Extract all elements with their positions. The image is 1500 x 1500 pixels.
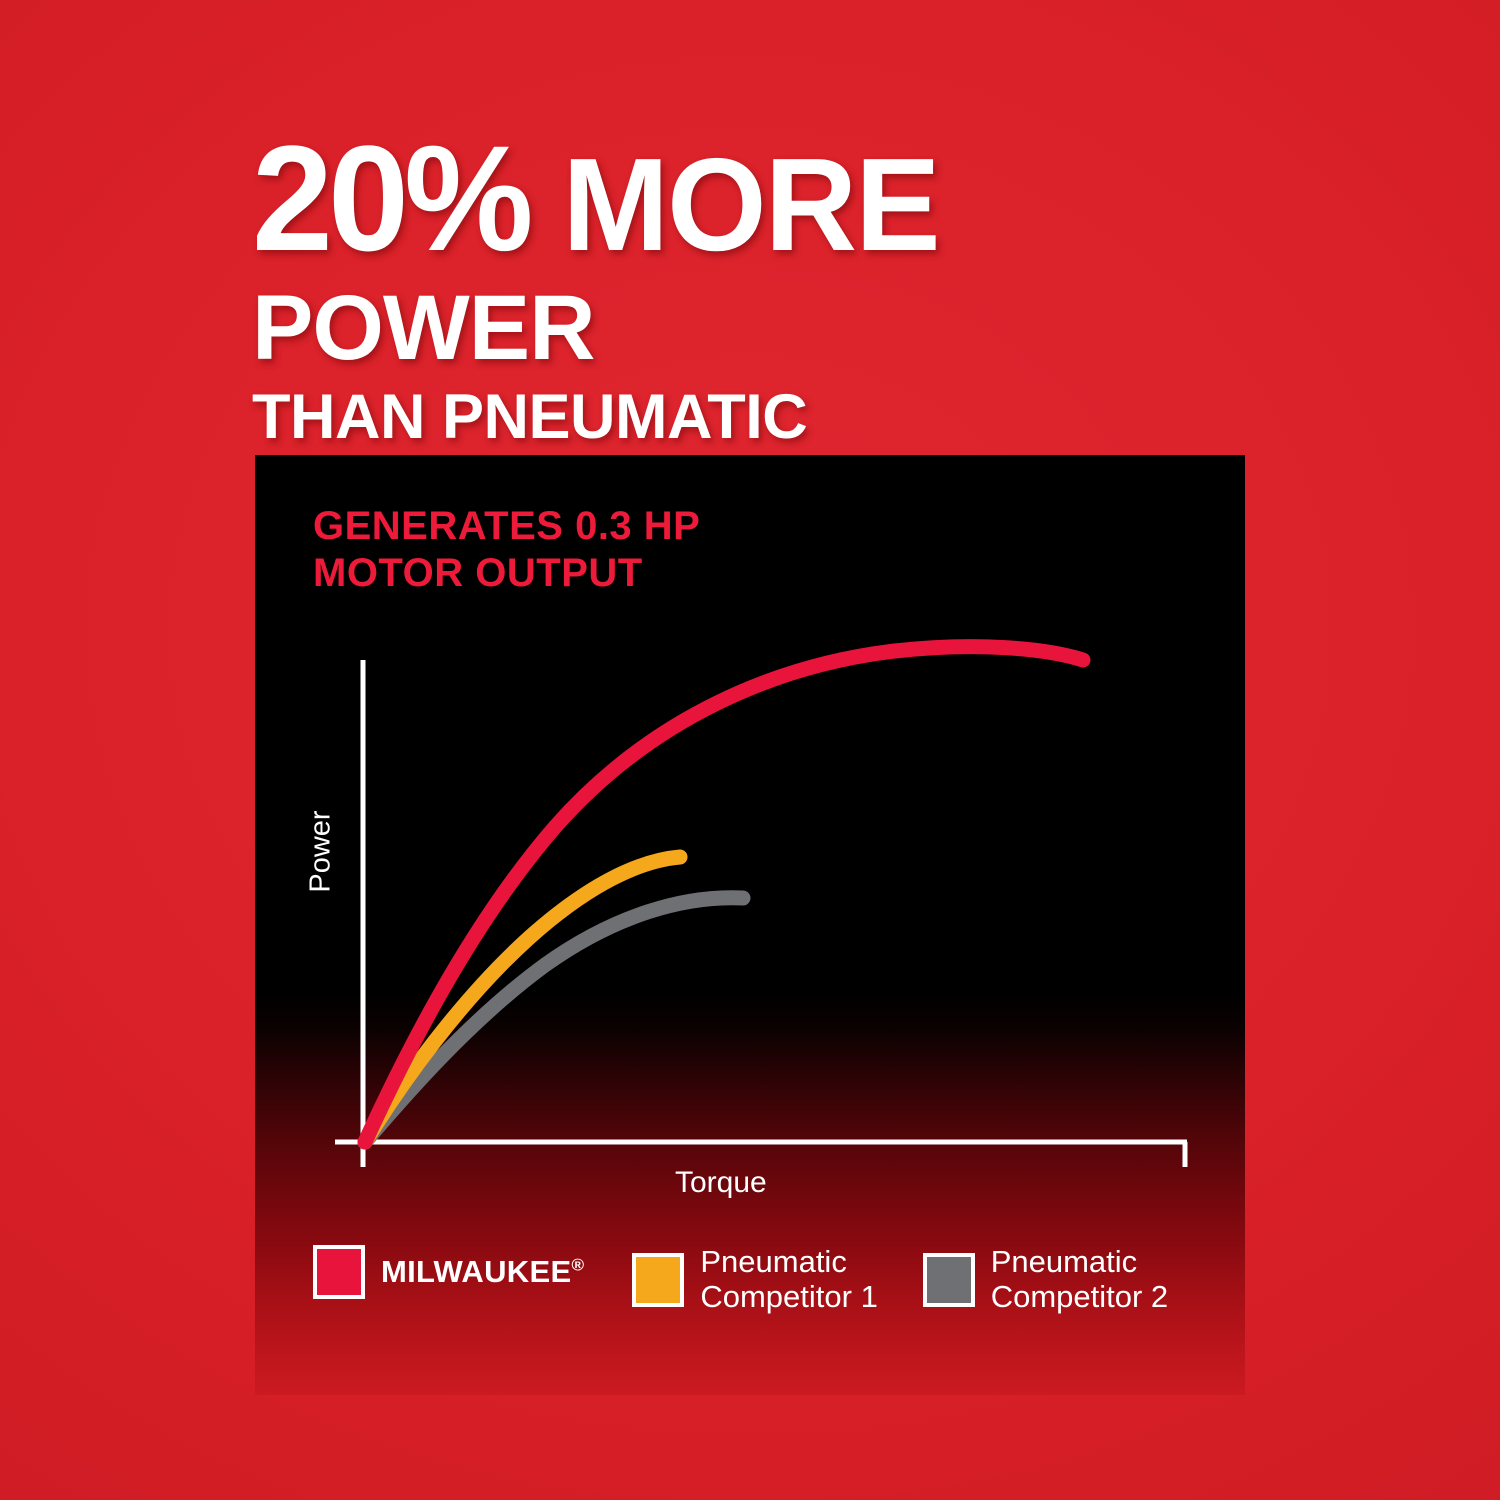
headline-line-3: THAN PNEUMATIC — [252, 384, 1372, 450]
legend-item-competitor-2: Pneumatic Competitor 2 — [923, 1245, 1213, 1314]
legend-label-competitor-2: Pneumatic Competitor 2 — [991, 1245, 1168, 1314]
headline-more: MORE — [529, 131, 939, 278]
legend-swatch-competitor-2 — [923, 1253, 975, 1307]
registered-trademark-icon: ® — [571, 1255, 584, 1274]
headline-percent: 20% — [252, 114, 529, 282]
legend-item-competitor-1: Pneumatic Competitor 1 — [632, 1245, 922, 1314]
chart-panel: GENERATES 0.3 HP MOTOR OUTPUT Power Torq… — [255, 455, 1245, 1395]
legend-swatch-milwaukee — [313, 1245, 365, 1299]
headline-line-2: POWER — [252, 282, 1372, 376]
y-axis-label: Power — [305, 782, 338, 922]
headline-line-1: 20% MORE — [252, 126, 1338, 270]
x-axis-label: Torque — [675, 1166, 767, 1200]
legend-label-milwaukee: MILWAUKEE® — [381, 1255, 584, 1290]
legend-label-competitor-1: Pneumatic Competitor 1 — [700, 1245, 877, 1314]
chart-legend: MILWAUKEE® Pneumatic Competitor 1 Pneuma… — [313, 1245, 1213, 1314]
headline-block: 20% MORE POWER THAN PNEUMATIC — [252, 126, 1372, 450]
poster-background: 20% MORE POWER THAN PNEUMATIC GENERATES … — [0, 0, 1500, 1500]
legend-swatch-competitor-1 — [632, 1253, 684, 1307]
legend-item-milwaukee: MILWAUKEE® — [313, 1245, 632, 1299]
